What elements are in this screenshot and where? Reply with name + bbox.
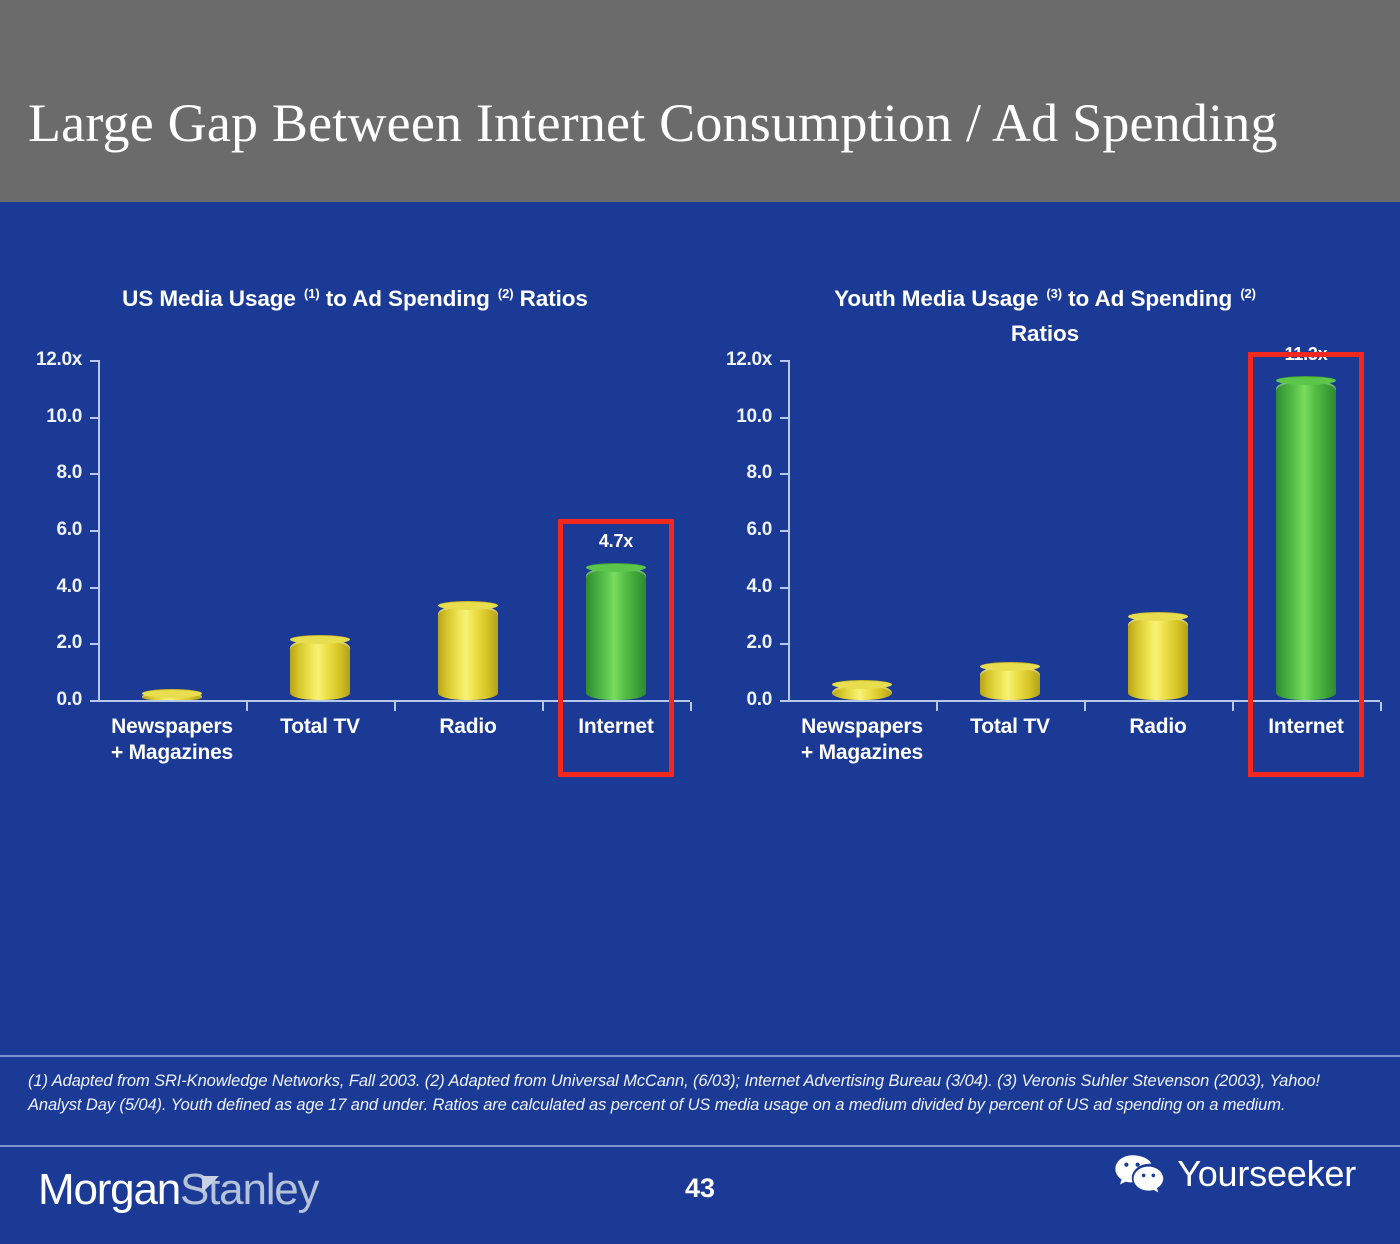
bar-newspapers — [832, 684, 892, 700]
bar-top-ellipse — [1128, 612, 1188, 621]
x-axis-tick — [1232, 702, 1234, 711]
y-axis-label: 2.0 — [0, 632, 82, 654]
bar-top-ellipse — [142, 689, 202, 698]
y-axis-label: 8.0 — [672, 462, 772, 484]
bar-radio — [1128, 616, 1188, 700]
y-axis-tick — [780, 530, 790, 532]
y-axis-tick — [780, 700, 790, 702]
y-axis-label: 8.0 — [0, 462, 82, 484]
x-axis-tick — [1084, 702, 1086, 711]
y-axis-tick — [780, 643, 790, 645]
plot-area-us-media-usage: 0.02.04.06.08.010.012.0xNewspapers+ Maga… — [10, 352, 700, 802]
bar-total-tv — [980, 666, 1040, 700]
y-axis-label: 0.0 — [0, 689, 82, 711]
yourseeker-label: Yourseeker — [1177, 1153, 1356, 1195]
category-label-line: + Magazines — [762, 740, 962, 766]
x-axis-tick — [542, 702, 544, 711]
y-axis-label: 10.0 — [672, 406, 772, 428]
chart-title-part-a: Youth Media Usage — [834, 286, 1038, 311]
chart-title-part-c: Ratios — [520, 286, 588, 311]
y-axis-tick — [780, 417, 790, 419]
chart-title-part-c: Ratios — [1011, 321, 1079, 346]
y-axis-tick — [90, 473, 100, 475]
chart-panel-youth-media-usage: Youth Media Usage (3) to Ad Spending (2)… — [700, 282, 1390, 802]
y-axis-tick — [90, 530, 100, 532]
y-axis-tick — [90, 700, 100, 702]
chart-title-part-b: to Ad Spending — [326, 286, 490, 311]
slide-body: US Media Usage (1) to Ad Spending (2) Ra… — [0, 202, 1400, 1042]
highlight-box-internet — [558, 519, 674, 777]
bar-top-ellipse — [980, 662, 1040, 671]
y-axis-label: 10.0 — [0, 406, 82, 428]
footnote-marker-3: (3) — [1044, 286, 1062, 301]
wechat-icon — [1114, 1153, 1164, 1195]
chart-title-part-b: to Ad Spending — [1068, 286, 1232, 311]
x-axis-tick — [394, 702, 396, 711]
footnote-marker-2: (2) — [496, 286, 514, 301]
chart-title-part-a: US Media Usage — [122, 286, 296, 311]
y-axis-tick — [90, 360, 100, 362]
x-axis-tick — [936, 702, 938, 711]
category-label-line: + Magazines — [72, 740, 272, 766]
y-axis-label: 2.0 — [672, 632, 772, 654]
y-axis-label: 4.0 — [672, 576, 772, 598]
footnote-marker-2: (2) — [1238, 286, 1256, 301]
header-band: Large Gap Between Internet Consumption /… — [0, 0, 1400, 202]
y-axis-label: 0.0 — [672, 689, 772, 711]
y-axis-line — [788, 362, 790, 702]
bar-radio — [438, 605, 498, 700]
x-axis-tick — [246, 702, 248, 711]
y-axis-label: 12.0x — [0, 349, 82, 371]
page-title: Large Gap Between Internet Consumption /… — [28, 92, 1278, 154]
y-axis-tick — [780, 587, 790, 589]
highlight-box-internet — [1248, 352, 1364, 777]
x-axis-tick — [1380, 702, 1382, 711]
y-axis-label: 6.0 — [672, 519, 772, 541]
bar-top-ellipse — [832, 680, 892, 689]
bar-newspapers — [142, 693, 202, 700]
y-axis-label: 4.0 — [0, 576, 82, 598]
footnote-marker-1: (1) — [302, 286, 320, 301]
y-axis-label: 12.0x — [672, 349, 772, 371]
y-axis-tick — [780, 360, 790, 362]
bar-top-ellipse — [438, 601, 498, 610]
bar-total-tv — [290, 639, 350, 700]
chart-panel-us-media-usage: US Media Usage (1) to Ad Spending (2) Ra… — [10, 282, 700, 802]
bar-top-ellipse — [290, 635, 350, 644]
plot-area-youth-media-usage: 0.02.04.06.08.010.012.0xNewspapers+ Maga… — [700, 352, 1390, 802]
y-axis-tick — [90, 417, 100, 419]
slide-footer: MorganStanley 43 Yourseeker — [0, 1147, 1400, 1244]
yourseeker-watermark: Yourseeker — [1114, 1153, 1356, 1195]
y-axis-tick — [90, 587, 100, 589]
y-axis-line — [98, 362, 100, 702]
footnote-divider-top — [0, 1055, 1400, 1057]
chart-title-us-media-usage: US Media Usage (1) to Ad Spending (2) Ra… — [10, 282, 700, 317]
y-axis-tick — [90, 643, 100, 645]
chart-title-youth-media-usage: Youth Media Usage (3) to Ad Spending (2)… — [700, 282, 1390, 352]
y-axis-label: 6.0 — [0, 519, 82, 541]
y-axis-tick — [780, 473, 790, 475]
footnote-text: (1) Adapted from SRI-Knowledge Networks,… — [28, 1070, 1373, 1118]
